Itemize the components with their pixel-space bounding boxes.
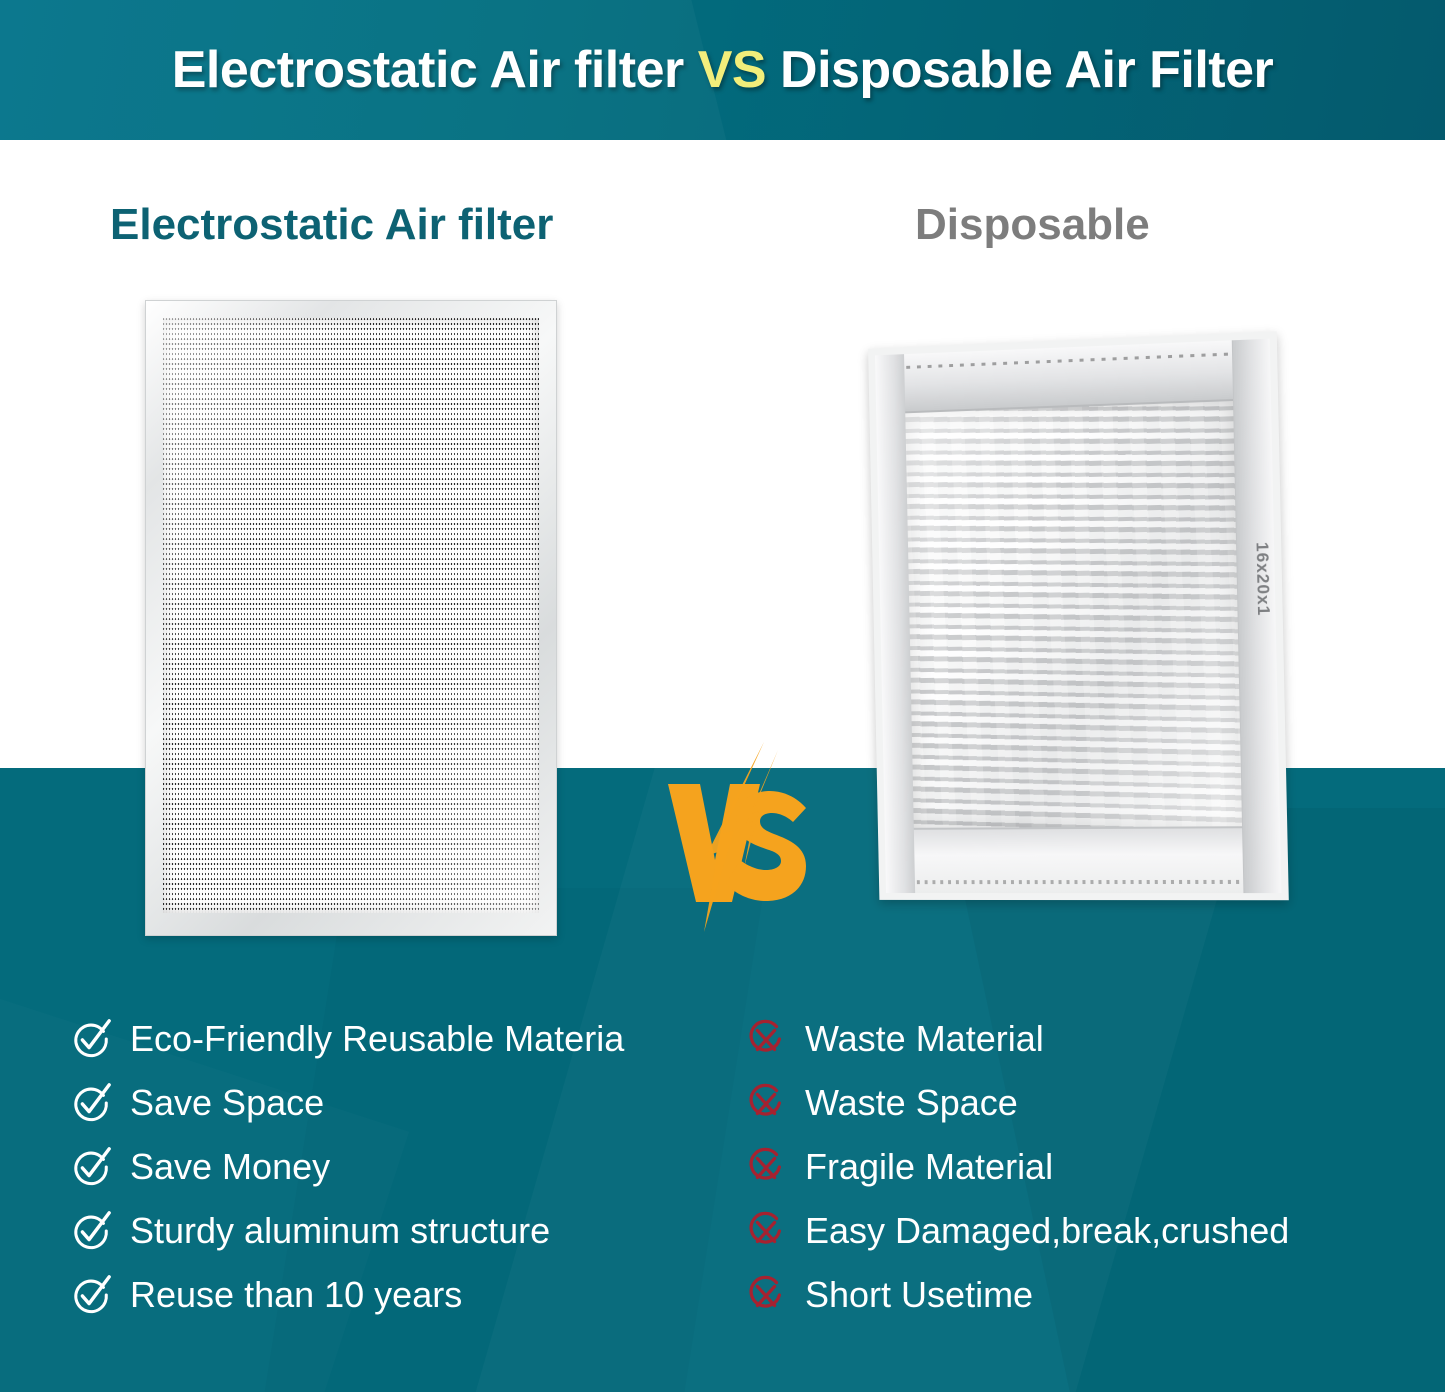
x-circle-icon bbox=[745, 1082, 787, 1124]
disposable-frame-bottom bbox=[885, 826, 1282, 893]
page-title-vs: VS bbox=[698, 41, 766, 99]
check-circle-icon bbox=[70, 1018, 112, 1060]
list-item: Easy Damaged,break,crushed bbox=[745, 1199, 1405, 1263]
list-item: Save Money bbox=[70, 1135, 730, 1199]
check-circle-icon bbox=[70, 1082, 112, 1124]
list-item: Sturdy aluminum structure bbox=[70, 1199, 730, 1263]
cons-item-label: Short Usetime bbox=[805, 1277, 1033, 1313]
check-circle-icon bbox=[70, 1210, 112, 1252]
check-circle-icon bbox=[70, 1274, 112, 1316]
x-circle-icon bbox=[745, 1146, 787, 1188]
x-circle-icon bbox=[745, 1210, 787, 1252]
pros-item-label: Reuse than 10 years bbox=[130, 1277, 462, 1313]
pros-item-label: Save Money bbox=[130, 1149, 330, 1185]
disposable-filter-media bbox=[905, 399, 1243, 830]
electrostatic-mesh-texture bbox=[163, 318, 539, 913]
header-banner: Electrostatic Air filter VS Disposable A… bbox=[0, 0, 1445, 140]
vs-badge-icon bbox=[660, 742, 810, 932]
vs-badge bbox=[660, 742, 810, 932]
list-item: Save Space bbox=[70, 1071, 730, 1135]
cons-item-label: Waste Material bbox=[805, 1021, 1044, 1057]
page-title-part2: Disposable Air Filter bbox=[766, 41, 1273, 99]
cons-item-label: Easy Damaged,break,crushed bbox=[805, 1213, 1289, 1249]
list-item: Waste Material bbox=[745, 1007, 1405, 1071]
column-label-disposable: Disposable bbox=[915, 200, 1150, 250]
disposable-filter-body: 16x20x1 bbox=[868, 331, 1289, 900]
cons-item-label: Waste Space bbox=[805, 1085, 1018, 1121]
pros-list: Eco-Friendly Reusable Materia Save Space… bbox=[70, 1007, 730, 1327]
comparison-infographic: Electrostatic Air filter VS Disposable A… bbox=[0, 0, 1445, 1392]
column-label-electrostatic: Electrostatic Air filter bbox=[110, 200, 553, 250]
list-item: Short Usetime bbox=[745, 1263, 1405, 1327]
cons-item-label: Fragile Material bbox=[805, 1149, 1053, 1185]
pros-item-label: Save Space bbox=[130, 1085, 324, 1121]
electrostatic-filter-image bbox=[145, 300, 557, 936]
page-title-part1: Electrostatic Air filter bbox=[172, 41, 698, 99]
list-item: Reuse than 10 years bbox=[70, 1263, 730, 1327]
list-item: Eco-Friendly Reusable Materia bbox=[70, 1007, 730, 1071]
pros-item-label: Sturdy aluminum structure bbox=[130, 1213, 550, 1249]
x-circle-icon bbox=[745, 1274, 787, 1316]
disposable-filter-image: 16x20x1 bbox=[870, 340, 1280, 900]
list-item: Fragile Material bbox=[745, 1135, 1405, 1199]
disposable-size-label: 16x20x1 bbox=[1251, 542, 1273, 617]
page-title: Electrostatic Air filter VS Disposable A… bbox=[0, 40, 1445, 100]
check-circle-icon bbox=[70, 1146, 112, 1188]
cons-list: Waste Material Waste Space Fragile Mater… bbox=[745, 1007, 1405, 1327]
x-circle-icon bbox=[745, 1018, 787, 1060]
pros-item-label: Eco-Friendly Reusable Materia bbox=[130, 1021, 624, 1057]
list-item: Waste Space bbox=[745, 1071, 1405, 1135]
